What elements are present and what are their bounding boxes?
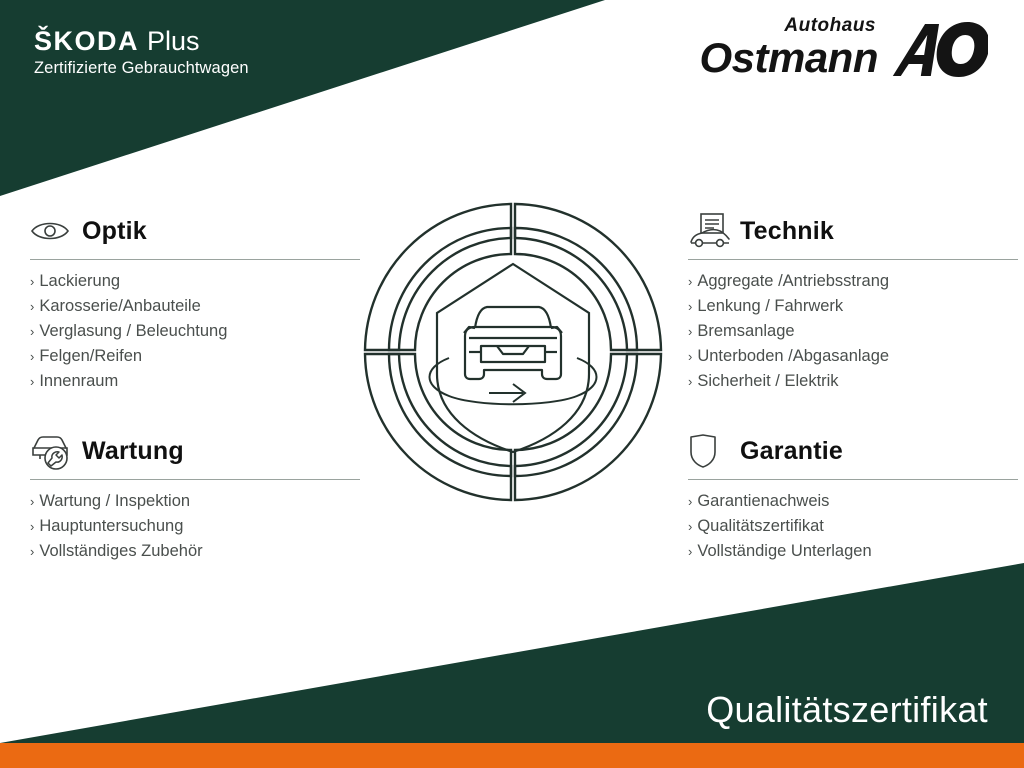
- chevron-right-icon: ›: [688, 319, 692, 344]
- list-item: › Vollständiges Zubehör: [30, 539, 360, 564]
- list-item-label: Hauptuntersuchung: [39, 514, 183, 539]
- certificate-page: ŠKODA Plus Zertifizierte Gebrauchtwagen …: [0, 0, 1024, 768]
- chevron-right-icon: ›: [30, 319, 34, 344]
- list-item-label: Bremsanlage: [697, 319, 794, 344]
- section-divider: [30, 479, 360, 480]
- chevron-right-icon: ›: [30, 344, 34, 369]
- checklist-garantie: › Garantienachweis › Qualitätszertifikat…: [688, 489, 1018, 564]
- dealer-ostmann-label: Ostmann: [699, 36, 878, 80]
- list-item: › Karosserie/Anbauteile: [30, 294, 360, 319]
- section-divider: [688, 259, 1018, 260]
- chevron-right-icon: ›: [30, 269, 34, 294]
- section-title: Technik: [740, 217, 834, 246]
- skoda-brand-line: ŠKODA Plus: [34, 26, 249, 56]
- chevron-right-icon: ›: [688, 369, 692, 394]
- section-garantie: Garantie › Garantienachweis › Qualitätsz…: [688, 430, 1018, 564]
- list-item: › Lackierung: [30, 269, 360, 294]
- list-item: › Wartung / Inspektion: [30, 489, 360, 514]
- chevron-right-icon: ›: [30, 489, 34, 514]
- section-header: Garantie: [688, 430, 1018, 472]
- list-item-label: Lackierung: [39, 269, 120, 294]
- section-title: Garantie: [740, 437, 843, 466]
- dealer-logo: Autohaus Ostmann: [699, 16, 988, 80]
- list-item-label: Wartung / Inspektion: [39, 489, 190, 514]
- section-optik: Optik › Lackierung › Karosserie/Anbautei…: [30, 210, 360, 394]
- list-item-label: Vollständige Unterlagen: [697, 539, 871, 564]
- chevron-right-icon: ›: [30, 514, 34, 539]
- chevron-right-icon: ›: [688, 489, 692, 514]
- list-item: › Felgen/Reifen: [30, 344, 360, 369]
- list-item-label: Lenkung / Fahrwerk: [697, 294, 843, 319]
- section-divider: [688, 479, 1018, 480]
- section-wartung: Wartung › Wartung / Inspektion › Hauptun…: [30, 430, 360, 564]
- shield-icon: [688, 431, 734, 471]
- dealer-autohaus-label: Autohaus: [699, 16, 878, 36]
- chevron-right-icon: ›: [688, 539, 692, 564]
- skoda-tagline: Zertifizierte Gebrauchtwagen: [34, 57, 249, 79]
- list-item: › Unterboden /Abgasanlage: [688, 344, 1018, 369]
- list-item-label: Garantienachweis: [697, 489, 829, 514]
- chevron-right-icon: ›: [688, 294, 692, 319]
- chevron-right-icon: ›: [688, 269, 692, 294]
- quality-seal-emblem: [357, 196, 669, 508]
- section-header: Wartung: [30, 430, 360, 472]
- section-header: Technik: [688, 210, 1018, 252]
- list-item-label: Felgen/Reifen: [39, 344, 142, 369]
- chevron-right-icon: ›: [688, 514, 692, 539]
- section-title: Optik: [82, 217, 147, 246]
- list-item: › Qualitätszertifikat: [688, 514, 1018, 539]
- list-item-label: Verglasung / Beleuchtung: [39, 319, 227, 344]
- chevron-right-icon: ›: [30, 294, 34, 319]
- list-item: › Vollständige Unterlagen: [688, 539, 1018, 564]
- section-title: Wartung: [82, 437, 184, 466]
- skoda-wordmark: ŠKODA: [34, 26, 139, 56]
- section-divider: [30, 259, 360, 260]
- chevron-right-icon: ›: [688, 344, 692, 369]
- list-item: › Lenkung / Fahrwerk: [688, 294, 1018, 319]
- list-item: › Verglasung / Beleuchtung: [30, 319, 360, 344]
- checklist-optik: › Lackierung › Karosserie/Anbauteile › V…: [30, 269, 360, 394]
- list-item-label: Qualitätszertifikat: [697, 514, 824, 539]
- car-wrench-icon: [30, 431, 76, 471]
- footer-caption: Qualitätszertifikat: [706, 690, 988, 730]
- list-item-label: Aggregate /Antriebsstrang: [697, 269, 889, 294]
- eye-icon: [30, 211, 76, 251]
- ao-monogram-icon: [886, 18, 988, 80]
- chevron-right-icon: ›: [30, 539, 34, 564]
- list-item: › Hauptuntersuchung: [30, 514, 360, 539]
- chevron-right-icon: ›: [30, 369, 34, 394]
- section-header: Optik: [30, 210, 360, 252]
- list-item: › Garantienachweis: [688, 489, 1018, 514]
- list-item: › Bremsanlage: [688, 319, 1018, 344]
- checklist-technik: › Aggregate /Antriebsstrang › Lenkung / …: [688, 269, 1018, 394]
- skoda-brand-block: ŠKODA Plus Zertifizierte Gebrauchtwagen: [34, 26, 249, 79]
- orange-accent-bar: [0, 743, 1024, 768]
- list-item-label: Vollständiges Zubehör: [39, 539, 202, 564]
- car-document-icon: [688, 211, 734, 251]
- skoda-plus-label: Plus: [147, 26, 200, 56]
- list-item-label: Innenraum: [39, 369, 118, 394]
- checklist-wartung: › Wartung / Inspektion › Hauptuntersuchu…: [30, 489, 360, 564]
- list-item: › Innenraum: [30, 369, 360, 394]
- list-item-label: Karosserie/Anbauteile: [39, 294, 200, 319]
- section-technik: Technik › Aggregate /Antriebsstrang › Le…: [688, 210, 1018, 394]
- list-item: › Aggregate /Antriebsstrang: [688, 269, 1018, 294]
- list-item-label: Sicherheit / Elektrik: [697, 369, 838, 394]
- list-item: › Sicherheit / Elektrik: [688, 369, 1018, 394]
- list-item-label: Unterboden /Abgasanlage: [697, 344, 889, 369]
